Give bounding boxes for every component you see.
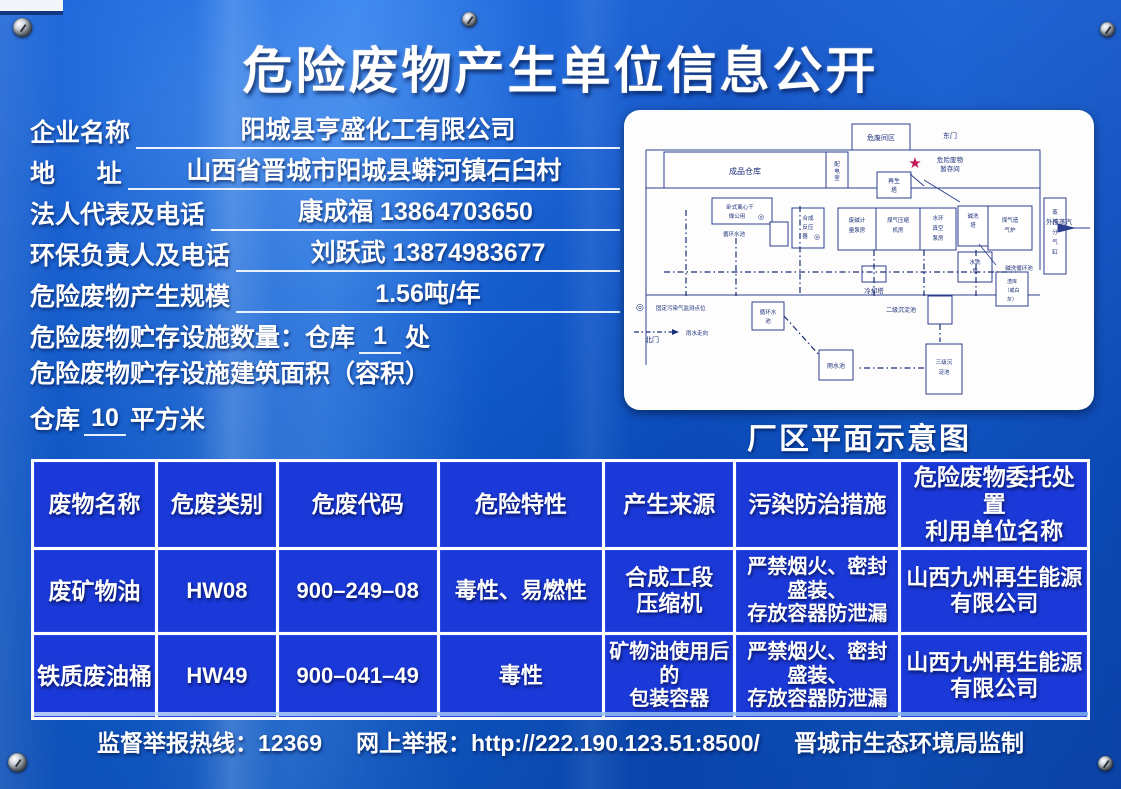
table-header-row: 废物名称 危废类别 危废代码 危险特性 产生来源 污染防治措施 危险废物委托处置… (34, 462, 1087, 547)
cell-entrusted-unit: 山西九州再生能源 有限公司 (901, 550, 1087, 632)
cell-hazard-property: 毒性、易燃性 (440, 550, 603, 632)
info-label: 危险废物产生规模 (30, 277, 230, 313)
diagram-label-east-gate: 东门 (943, 131, 957, 140)
info-value: 刘跃武 13874983677 (236, 233, 620, 272)
diagram-block-hazwaste-zone: 危废间区 (852, 124, 910, 150)
table-header-entrusted-unit: 危险废物委托处置 利用单位名称 (901, 462, 1087, 547)
diagram-block-alkali-wash-tower: 碱洗 塔 (958, 206, 988, 246)
info-row-generation-scale: 危险废物产生规模 1.56吨/年 (30, 272, 620, 313)
factory-layout-diagram-wrapper: 成品仓库 配 电 室 危废间区 东门 北门 西门 ★ (624, 110, 1094, 410)
info-unit: 平方米 (130, 400, 205, 436)
svg-text:塔: 塔 (972, 267, 978, 275)
svg-text:暂存间: 暂存间 (940, 164, 960, 173)
svg-text:合成: 合成 (802, 214, 814, 222)
svg-text:成品仓库: 成品仓库 (729, 166, 761, 176)
info-row-company-name: 企业名称 阳城县亨盛化工有限公司 (30, 108, 620, 149)
table-header-waste-name: 废物名称 (34, 462, 155, 547)
diagram-label-secondary-sed-pool: 二级沉淀池 (886, 306, 916, 314)
info-label: 法人代表及电话 (30, 195, 205, 231)
info-row-env-officer: 环保负责人及电话 刘跃武 13874983677 (30, 231, 620, 272)
legend-rainwater-text: 雨水走向 (686, 329, 708, 337)
svg-text:水洗: 水洗 (969, 258, 981, 266)
diagram-label-circulating-pool: 循环水池 (723, 230, 746, 238)
cell-waste-category: HW08 (158, 550, 276, 632)
diagram-caption: 厂区平面示意图 (624, 414, 1094, 458)
svg-text:碱洗: 碱洗 (967, 212, 979, 220)
cell-waste-name: 铁质废油桶 (34, 635, 155, 717)
info-value: 1.56吨/年 (236, 274, 620, 313)
svg-text:（或白: （或白 (1004, 287, 1019, 294)
table-header-source: 产生来源 (605, 462, 733, 547)
diagram-block-small-unit (770, 222, 788, 246)
table-row: 铁质废油桶 HW49 900–041–49 毒性 矿物油使用后的 包装容器 严禁… (34, 635, 1087, 717)
info-value: 10 (84, 404, 126, 436)
info-label: 危险废物贮存设施建筑面积（容积） (30, 360, 430, 388)
svg-text:反应: 反应 (802, 223, 814, 231)
svg-text:池: 池 (765, 317, 771, 325)
hazardous-waste-table: 废物名称 危废类别 危废代码 危险特性 产生来源 污染防治措施 危险废物委托处置… (31, 459, 1090, 720)
table-header-measures: 污染防治措施 (736, 462, 898, 547)
svg-text:◎: ◎ (814, 234, 820, 241)
company-info-block: 企业名称 阳城县亨盛化工有限公司 地 址 山西省晋城市阳城县蟒河镇石臼村 法人代… (30, 108, 620, 436)
diagram-label-external-steam: 外接蒸汽 (1046, 217, 1073, 226)
diagram-block-gas-compressor-room: 煤气压缩 机房 (876, 208, 920, 250)
cell-entrusted-unit: 山西九州再生能源 有限公司 (901, 635, 1087, 717)
info-value: 山西省晋城市阳城县蟒河镇石臼村 (128, 151, 620, 190)
factory-layout-diagram: 成品仓库 配 电 室 危废间区 东门 北门 西门 ★ (624, 110, 1094, 410)
svg-text:灰）: 灰） (1007, 296, 1017, 303)
svg-text:◎: ◎ (758, 214, 764, 221)
svg-text:渣库: 渣库 (1007, 278, 1017, 285)
svg-text:缸: 缸 (1052, 248, 1058, 256)
cell-measures: 严禁烟火、密封盛装、 存放容器防泄漏 (736, 550, 898, 632)
hazwaste-star-marker: ★ (908, 155, 921, 172)
table-header-waste-code: 危废代码 (279, 462, 437, 547)
svg-text:器: 器 (802, 233, 808, 240)
info-label: 企业名称 (30, 113, 130, 149)
top-edge-strip (0, 0, 63, 11)
diagram-block-centrifugal-dryer: 卧式离心干 燥公用 ◎ (712, 198, 772, 224)
footer-divider (34, 712, 1088, 716)
svg-text:室: 室 (834, 174, 840, 182)
svg-text:量泵房: 量泵房 (849, 226, 866, 234)
cell-waste-name: 废矿物油 (34, 550, 155, 632)
footer-authority: 晋城市生态环境局监制 (794, 724, 1024, 758)
table-row: 废矿物油 HW08 900–249–08 毒性、易燃性 合成工段 压缩机 严禁烟… (34, 550, 1087, 632)
info-label: 仓库 (30, 400, 80, 436)
info-row-storage-area-label: 危险废物贮存设施建筑面积（容积） (30, 354, 620, 395)
footer-online-report: 网上举报：http://222.190.123.51:8500/ (356, 724, 760, 758)
svg-text:危废间区: 危废间区 (867, 133, 895, 142)
information-board: 危险废物产生单位信息公开 企业名称 阳城县亨盛化工有限公司 地 址 山西省晋城市… (0, 0, 1121, 789)
page-title: 危险废物产生单位信息公开 (0, 31, 1121, 103)
info-label: 环保负责人及电话 (30, 236, 230, 272)
diagram-block-gas-producer-furnace: 煤气造 气炉 (988, 206, 1032, 250)
legend-monitor-text: 固定污染气监测点位 (656, 304, 706, 312)
table-header-hazard-property: 危险特性 (440, 462, 603, 547)
cell-waste-code: 900–249–08 (279, 550, 437, 632)
diagram-legend: ◎ 固定污染气监测点位 雨水走向 (634, 302, 708, 337)
diagram-block-finished-warehouse: 成品仓库 (664, 152, 826, 188)
svg-text:气: 气 (1052, 238, 1058, 246)
svg-text:煤气造: 煤气造 (1002, 216, 1019, 224)
footer-bar: 监督举报热线：12369 网上举报：http://222.190.123.51:… (0, 724, 1121, 758)
mounting-screw-bottom-right (1098, 756, 1113, 771)
diagram-block-slag-store: 渣库 （或白 灰） (996, 272, 1028, 306)
svg-text:燥公用: 燥公用 (729, 212, 746, 220)
svg-text:三级沉: 三级沉 (936, 358, 953, 366)
diagram-block-water-wash-tower: 水洗 塔 (958, 252, 992, 282)
info-value: 康成福 13864703650 (211, 192, 620, 231)
legend-monitor-icon: ◎ (636, 302, 644, 312)
info-label: 危险废物贮存设施数量：仓库 (30, 318, 355, 354)
info-value: 1 (359, 322, 401, 354)
svg-text:泵房: 泵房 (932, 234, 944, 242)
svg-text:分: 分 (1052, 228, 1058, 236)
diagram-block-circulation-pool: 循环水 池 (752, 302, 784, 330)
diagram-block-tertiary-sed-pool: 三级沉 淀池 (926, 344, 962, 394)
info-row-address: 地 址 山西省晋城市阳城县蟒河镇石臼村 (30, 149, 620, 190)
diagram-label-hazwaste-storage: 危险废物 (937, 155, 964, 164)
top-edge-strip-shadow (0, 11, 63, 15)
diagram-label-north-gate: 北门 (645, 335, 659, 344)
svg-text:电: 电 (834, 167, 840, 175)
svg-text:雨水池: 雨水池 (827, 362, 845, 370)
svg-text:蒸: 蒸 (1052, 208, 1058, 216)
info-row-storage-area-value: 仓库 10 平方米 (30, 395, 620, 436)
diagram-block-steam-manifold: 蒸 汽 分 气 缸 (1044, 198, 1066, 274)
diagram-block-secondary-sed-pool (928, 296, 952, 324)
cell-measures: 严禁烟火、密封盛装、 存放容器防泄漏 (736, 635, 898, 717)
diagram-label-alkali-circulation-pool: 碱洗循环池 (1005, 264, 1033, 272)
svg-text:塔: 塔 (970, 221, 976, 229)
svg-text:废碱计: 废碱计 (849, 216, 866, 224)
diagram-block-vacuum-pump-room: 水环 真空 泵房 (920, 208, 956, 250)
info-row-storage-count: 危险废物贮存设施数量：仓库 1 处 (30, 313, 620, 354)
mounting-screw-top-center (462, 12, 477, 27)
cell-hazard-property: 毒性 (440, 635, 603, 717)
diagram-block-rainwater-pool: 雨水池 (819, 350, 853, 380)
info-row-legal-rep: 法人代表及电话 康成福 13864703650 (30, 190, 620, 231)
svg-text:真空: 真空 (932, 224, 944, 232)
cell-source: 矿物油使用后的 包装容器 (605, 635, 733, 717)
info-unit: 处 (405, 318, 430, 354)
info-label: 地 址 (30, 154, 122, 190)
svg-text:淀池: 淀池 (938, 368, 950, 376)
cell-waste-category: HW49 (158, 635, 276, 717)
cell-source: 合成工段 压缩机 (605, 550, 733, 632)
diagram-block-regeneration-tower: 再生 塔 (877, 172, 911, 198)
diagram-block-power-room: 配 电 室 (826, 152, 848, 188)
svg-text:循环水: 循环水 (760, 308, 777, 316)
hazardous-waste-table-wrapper: 废物名称 危废类别 危废代码 危险特性 产生来源 污染防治措施 危险废物委托处置… (31, 459, 1090, 720)
svg-text:水环: 水环 (932, 214, 944, 222)
svg-text:机房: 机房 (892, 226, 904, 234)
svg-text:配: 配 (834, 161, 840, 168)
table-header-waste-category: 危废类别 (158, 462, 276, 547)
svg-text:煤气压缩: 煤气压缩 (887, 216, 910, 224)
svg-text:塔: 塔 (891, 186, 897, 194)
info-value: 阳城县亨盛化工有限公司 (136, 110, 620, 149)
factory-layout-svg: 成品仓库 配 电 室 危废间区 东门 北门 西门 ★ (624, 110, 1094, 410)
diagram-block-alkali-pump-room: 废碱计 量泵房 (838, 208, 876, 250)
cell-waste-code: 900–041–49 (279, 635, 437, 717)
footer-hotline: 监督举报热线：12369 (97, 724, 322, 758)
diagram-block-synthesis-reactor: 合成 反应 器 ◎ (792, 208, 824, 248)
svg-text:气炉: 气炉 (1004, 226, 1016, 234)
svg-text:再生: 再生 (888, 177, 900, 185)
svg-text:卧式离心干: 卧式离心干 (726, 203, 754, 211)
